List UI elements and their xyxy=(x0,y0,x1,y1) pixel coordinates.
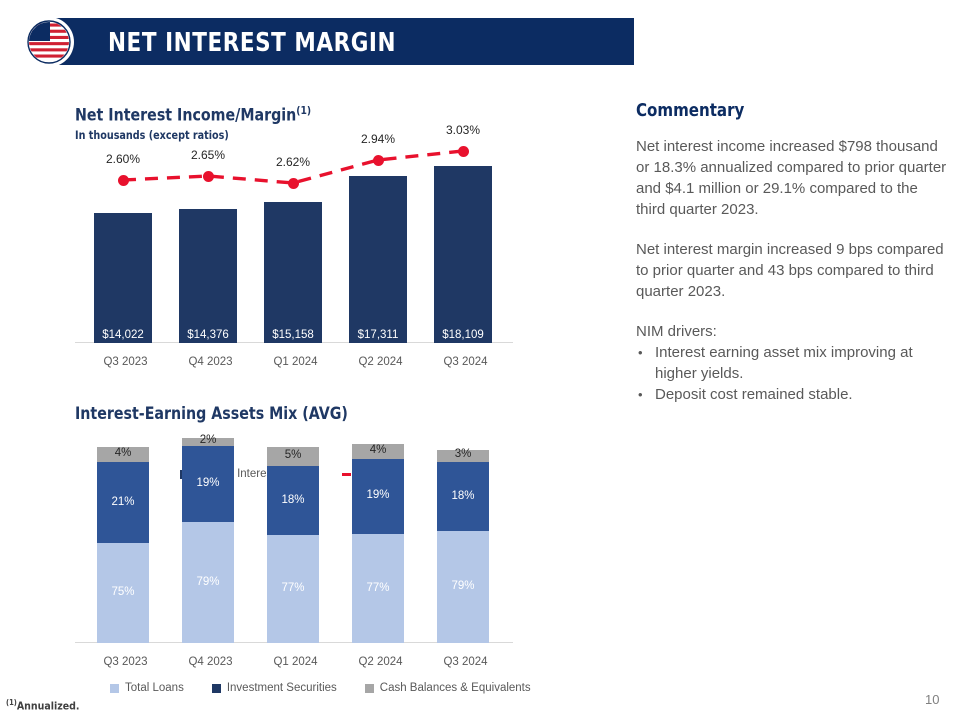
mix-segment-value: 19% xyxy=(366,490,389,502)
nim-value-label: 2.94% xyxy=(346,132,410,146)
mix-segment-loans[interactable]: 79% xyxy=(182,522,234,643)
mix-column: 4% 19% 77% Q2 2024 xyxy=(338,434,423,676)
mix-segment-securities[interactable]: 19% xyxy=(352,459,404,534)
legend-swatch-cash-icon xyxy=(365,684,374,693)
mix-segment-cash[interactable]: 4% xyxy=(97,447,149,462)
commentary-paragraph: Net interest income increased $798 thous… xyxy=(636,136,948,220)
legend-swatch-loans-icon xyxy=(110,684,119,693)
legend-label: Cash Balances & Equivalents xyxy=(380,682,531,694)
legend-item-cash-balances[interactable]: Cash Balances & Equivalents xyxy=(365,682,531,694)
mix-column: 4% 21% 75% Q3 2023 xyxy=(83,434,168,676)
chart-title-nii-text: Net Interest Income/Margin xyxy=(75,106,296,126)
mix-segment-securities[interactable]: 18% xyxy=(267,466,319,536)
mix-segment-cash[interactable]: 2% xyxy=(182,438,234,446)
mix-segment-cash[interactable]: 3% xyxy=(437,450,489,462)
chart-subtitle-nii: In thousands (except ratios) xyxy=(75,128,484,142)
mix-segment-loans[interactable]: 77% xyxy=(267,535,319,643)
footnote: (1)Annualized. xyxy=(6,698,79,713)
nim-marker[interactable] xyxy=(288,178,299,189)
mix-column: 5% 18% 77% Q1 2024 xyxy=(253,434,338,676)
list-item: Deposit cost remained stable. xyxy=(636,384,948,405)
mix-segment-value: 77% xyxy=(366,583,389,595)
nim-marker[interactable] xyxy=(118,175,129,186)
mix-segment-securities[interactable]: 21% xyxy=(97,462,149,543)
nim-marker[interactable] xyxy=(458,146,469,157)
nim-value-label: 2.65% xyxy=(176,148,240,162)
mix-segment-loans[interactable]: 77% xyxy=(352,534,404,643)
mix-category-label: Q2 2024 xyxy=(338,656,423,668)
net-interest-income-margin-chart: Net Interest Income/Margin(1) In thousan… xyxy=(75,104,515,389)
nim-value-label: 2.62% xyxy=(261,155,325,169)
commentary-panel: Commentary Net interest income increased… xyxy=(636,100,948,405)
mix-category-label: Q3 2024 xyxy=(423,656,508,668)
mix-segment-loans[interactable]: 79% xyxy=(437,531,489,643)
mix-category-label: Q4 2023 xyxy=(168,656,253,668)
legend-item-total-loans[interactable]: Total Loans xyxy=(110,682,184,694)
chart-title-nii-footnote-marker: (1) xyxy=(296,104,311,117)
page-number: 10 xyxy=(925,692,939,707)
footnote-marker: (1) xyxy=(6,698,17,707)
mix-segment-value: 79% xyxy=(196,577,219,589)
mix-segment-value: 19% xyxy=(196,478,219,490)
mix-category-label: Q1 2024 xyxy=(253,656,338,668)
mix-segment-securities[interactable]: 18% xyxy=(437,462,489,531)
mix-segment-securities[interactable]: 19% xyxy=(182,446,234,522)
nim-value-label: 2.60% xyxy=(91,152,155,166)
mix-segment-value: 5% xyxy=(285,450,302,462)
mix-segment-value: 79% xyxy=(451,581,474,593)
commentary-paragraph: Net interest margin increased 9 bps comp… xyxy=(636,239,948,302)
legend-label: Investment Securities xyxy=(227,682,337,694)
chart-title-nii: Net Interest Income/Margin(1) xyxy=(75,104,484,126)
mix-stack: 4% 21% 75% xyxy=(97,447,149,643)
mix-segment-cash[interactable]: 4% xyxy=(352,444,404,459)
mix-segment-loans[interactable]: 75% xyxy=(97,543,149,643)
mix-segment-value: 3% xyxy=(455,449,472,461)
mix-stack: 5% 18% 77% xyxy=(267,447,319,643)
list-item: Interest earning asset mix improving at … xyxy=(636,342,948,384)
nii-plot-area: $14,022 Q3 2023 $14,376 Q4 2023 $15,158 … xyxy=(75,150,513,376)
legend-item-investment-securities[interactable]: Investment Securities xyxy=(212,682,337,694)
commentary-heading: Commentary xyxy=(636,100,926,121)
mix-segment-value: 75% xyxy=(111,587,134,599)
interest-earning-assets-mix-chart: Interest-Earning Assets Mix (AVG) 4% 21%… xyxy=(75,404,515,704)
mix-segment-value: 77% xyxy=(281,583,304,595)
mix-legend: Total Loans Investment Securities Cash B… xyxy=(110,682,531,694)
mix-stack: 2% 19% 79% xyxy=(182,438,234,643)
mix-segment-cash[interactable]: 5% xyxy=(267,447,319,466)
mix-stack: 4% 19% 77% xyxy=(352,444,404,643)
mix-column: 2% 19% 79% Q4 2023 xyxy=(168,434,253,676)
nim-value-label: 3.03% xyxy=(431,123,495,137)
legend-label: Total Loans xyxy=(125,682,184,694)
page-title: NET INTEREST MARGIN xyxy=(108,26,586,60)
footnote-text: Annualized. xyxy=(17,701,80,713)
chart-title-mix: Interest-Earning Assets Mix (AVG) xyxy=(75,404,484,424)
mix-stack: 3% 18% 79% xyxy=(437,450,489,643)
nim-drivers-label: NIM drivers: xyxy=(636,321,948,342)
mix-segment-value: 4% xyxy=(115,448,132,460)
mix-column: 3% 18% 79% Q3 2024 xyxy=(423,434,508,676)
mix-segment-value: 4% xyxy=(370,445,387,457)
nim-marker[interactable] xyxy=(373,155,384,166)
mix-segment-value: 2% xyxy=(200,435,217,447)
nim-marker[interactable] xyxy=(203,171,214,182)
circular-american-flag-logo xyxy=(16,16,82,68)
mix-category-label: Q3 2023 xyxy=(83,656,168,668)
mix-segment-value: 21% xyxy=(111,497,134,509)
mix-segment-value: 18% xyxy=(451,491,474,503)
legend-swatch-securities-icon xyxy=(212,684,221,693)
mix-segment-value: 18% xyxy=(281,495,304,507)
mix-plot-area: 4% 21% 75% Q3 2023 2% 19% 79% Q4 2023 5%… xyxy=(75,434,513,676)
nim-drivers-list: Interest earning asset mix improving at … xyxy=(636,342,948,405)
